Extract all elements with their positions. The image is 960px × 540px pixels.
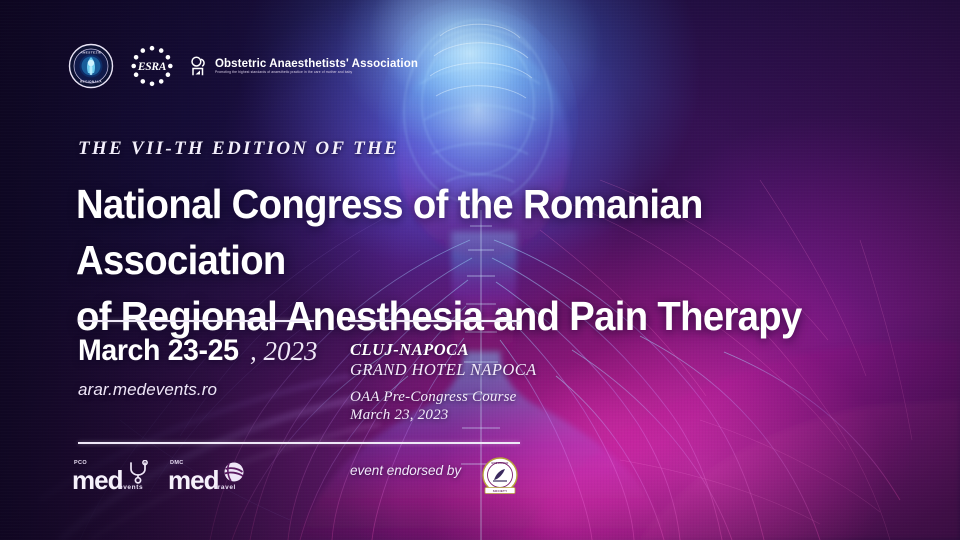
oaa-logo: Obstetric Anaesthetists' Association Pro… — [190, 56, 418, 76]
divider-right — [348, 320, 520, 322]
svg-text:SOCIETY: SOCIETY — [493, 489, 508, 493]
title-line-1: National Congress of the Romanian Associ… — [76, 176, 860, 288]
medevents-logo: PCO med events — [72, 458, 152, 502]
divider-left — [78, 320, 314, 322]
divider-bottom — [78, 442, 520, 444]
esra-logo: ESRA — [128, 43, 176, 89]
stethoscope-icon — [126, 460, 150, 484]
medtravel-logo: DMC med travel — [168, 458, 248, 502]
oaa-mark-icon — [190, 56, 210, 76]
medtravel-wordmark: med — [168, 467, 218, 493]
venue-hotel: GRAND HOTEL NAPOCA — [350, 360, 537, 380]
partner-logo-row: PCO med events DMC med travel — [72, 458, 248, 502]
event-website-link[interactable]: arar.medevents.ro — [78, 380, 217, 400]
precongress-course-name: OAA Pre-Congress Course — [350, 389, 517, 406]
event-date-year: , 2023 — [250, 336, 318, 367]
venue-city: CLUJ-NAPOCA — [350, 340, 469, 360]
medtravel-sub-label: travel — [215, 484, 236, 491]
precongress-course-date: March 23, 2023 — [350, 407, 448, 424]
svg-text:ESRA: ESRA — [137, 61, 167, 73]
romanian-society-seal: ANESTEZIE REGIONALA — [68, 43, 114, 89]
endorser-seal: ENDORSED SOCIETY — [478, 456, 522, 498]
svg-text:ENDORSED: ENDORSED — [491, 461, 508, 465]
page-title: National Congress of the Romanian Associ… — [76, 176, 860, 344]
svg-text:ANESTEZIE: ANESTEZIE — [81, 50, 102, 54]
event-date: March 23-25 , 2023 — [78, 334, 318, 368]
conference-poster: ANESTEZIE REGIONALA — [0, 0, 960, 540]
endorsed-label: event endorsed by — [350, 463, 461, 478]
globe-swirl-icon — [222, 460, 246, 484]
oaa-title: Obstetric Anaesthetists' Association — [215, 58, 418, 70]
oaa-tagline: Promoting the highest standards of anaes… — [215, 71, 418, 75]
medevents-wordmark: med — [72, 467, 122, 493]
eyebrow-text: THE VII-TH EDITION OF THE — [78, 138, 399, 160]
medevents-sub-label: events — [119, 484, 143, 491]
header-logo-row: ANESTEZIE REGIONALA — [68, 43, 418, 89]
svg-text:REGIONALA: REGIONALA — [80, 79, 103, 83]
event-date-days: March 23-25 — [78, 334, 239, 368]
